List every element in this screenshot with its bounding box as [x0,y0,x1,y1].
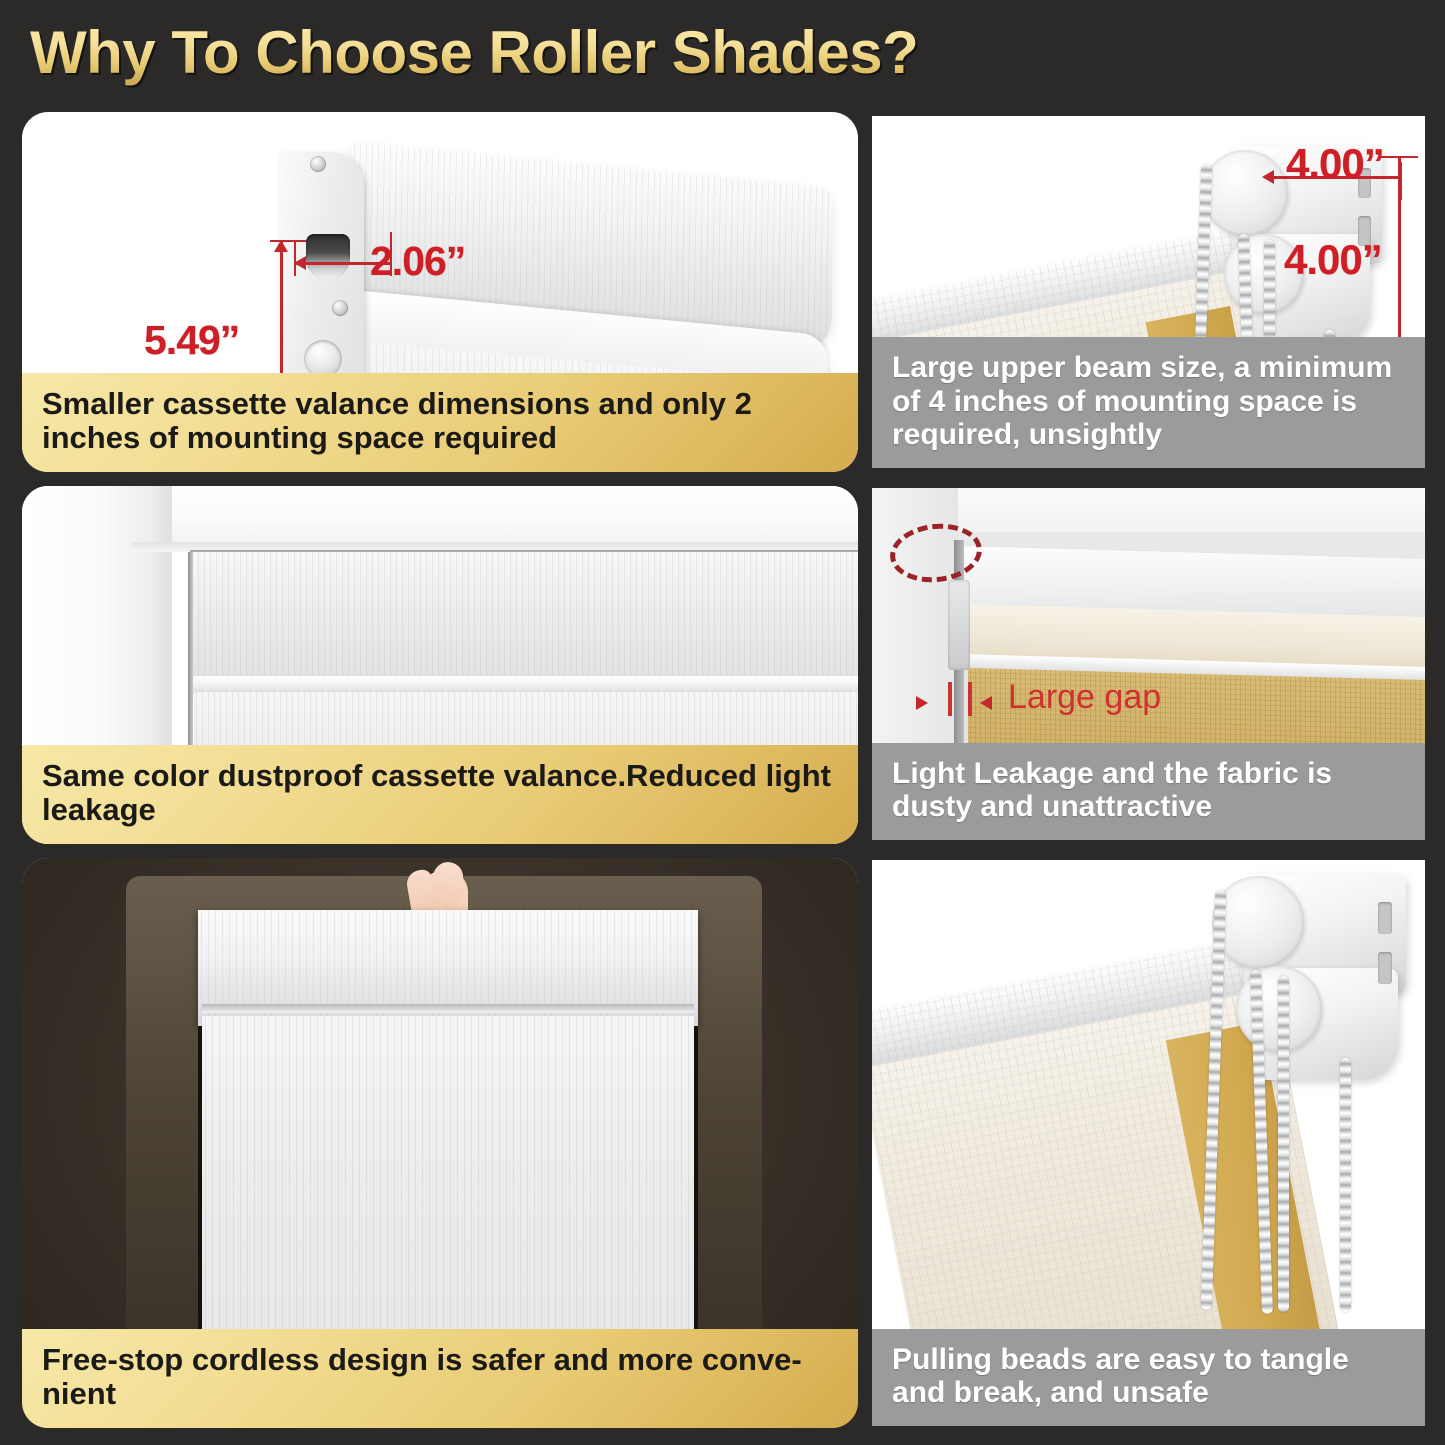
panel-3: smaller gap Same color dustproof cassett… [22,486,858,844]
dim-arrow-up [274,240,288,252]
panel-6: Pulling beads are easy to tangle and bre… [872,860,1425,1426]
gap-marker [948,682,952,716]
bead-chain[interactable] [1340,1058,1351,1312]
gap-arrow-left [980,696,992,710]
panel-6-caption: Pulling beads are easy to tangle and bre… [872,1329,1425,1426]
shade-fabric [202,1016,694,1350]
panel-2: 4.00” 4.00” Large upper beam size, a min… [872,116,1425,468]
window-frame-top [132,486,858,550]
dimension-width-label: 4.00” [1286,140,1384,188]
gap-arrow-right [916,696,928,710]
screw-icon [310,156,326,172]
panel-3-caption: Same color dustproof cassette valance.Re… [22,745,858,844]
gap-label: Large gap [1008,678,1161,717]
dim-extension-top [1380,156,1418,158]
dim-extension-left [294,240,296,276]
head-rail-edge [202,1004,694,1013]
dimension-height-label: 5.49” [144,317,239,364]
page-title: Why To Choose Roller Shades? [30,18,918,87]
screw-icon [332,300,348,316]
bracket-disc-upper [1212,876,1304,968]
gap-marker [968,682,972,716]
panel-1-caption: Smaller cassette valance dimensions and … [22,373,858,472]
header-bar: Why To Choose Roller Shades? [0,0,1445,104]
panel-1: 2.06” 5.49” Smaller cassette valance dim… [22,112,858,472]
mounting-clip [948,580,970,670]
panel-2-caption: Large upper beam size, a minimum of 4 in… [872,337,1425,468]
panel-5-caption: Free-stop cordless design is safer and m… [22,1329,858,1428]
valance-slot [306,234,350,280]
dimension-height-label: 4.00” [1284,236,1382,284]
bracket-disc-upper [1202,150,1288,236]
bracket-slot [1378,902,1392,934]
bead-chain[interactable] [1278,976,1289,1312]
dim-line-height [1398,156,1401,356]
dimension-width-label: 2.06” [370,238,465,285]
cassette-valance [190,552,858,680]
dim-arrow-left [1262,170,1274,184]
panel-5: Free-stop cordless design is safer and m… [22,858,858,1428]
bracket-slot [1378,952,1392,984]
panel-4-caption: Light Leakage and the fabric is dusty an… [872,743,1425,840]
panel-4: Large gap Light Leakage and the fabric i… [872,488,1425,840]
